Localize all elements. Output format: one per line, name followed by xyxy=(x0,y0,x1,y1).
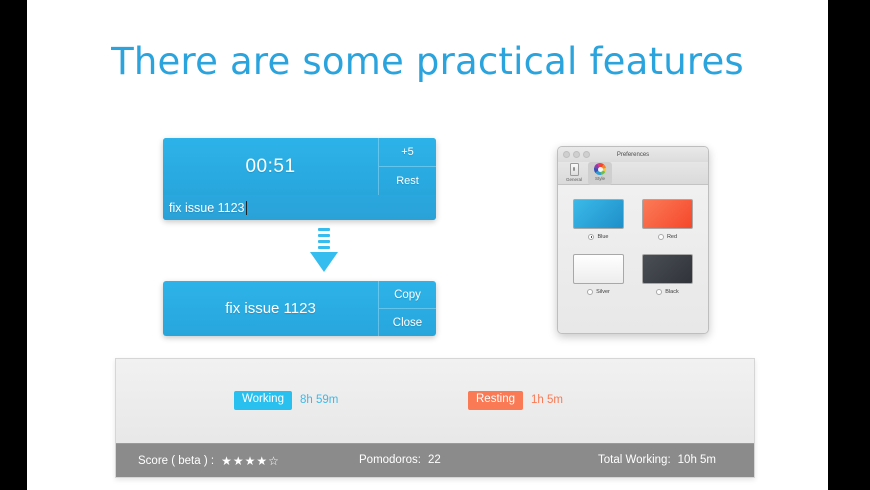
preferences-body: Blue Red Silver xyxy=(558,185,708,333)
preferences-toolbar: General Style xyxy=(558,162,708,185)
working-stat: Working 8h 59m xyxy=(234,391,338,410)
stats-footer: Score ( beta ) : ★★★★☆ Pomodoros: 22 Tot… xyxy=(116,443,754,478)
task-input-value: fix issue 1123 xyxy=(169,201,245,215)
score-stars: ★★★★☆ xyxy=(221,454,280,468)
radio-blue[interactable] xyxy=(588,234,594,240)
slide-canvas: There are some practical features 00:51 … xyxy=(27,0,828,490)
task-input-row[interactable]: fix issue 1123 xyxy=(163,195,436,220)
stats-panel: Working 8h 59m Resting 1h 5m Score ( bet… xyxy=(115,358,755,478)
arrow-segment xyxy=(318,228,330,231)
score-label: Score ( beta ) : xyxy=(138,455,214,467)
result-task-label: fix issue 1123 xyxy=(163,281,378,336)
radio-silver[interactable] xyxy=(587,289,593,295)
arrow-down-icon xyxy=(309,228,339,276)
add-five-minutes-button[interactable]: +5 xyxy=(379,138,436,167)
arrow-segment xyxy=(318,240,330,243)
theme-label-black: Black xyxy=(665,289,678,295)
theme-option-blue[interactable]: Blue xyxy=(570,199,627,240)
theme-radio-row-black[interactable]: Black xyxy=(656,289,678,295)
theme-label-silver: Silver xyxy=(596,289,610,295)
swatch-black[interactable] xyxy=(642,254,693,284)
resting-badge: Resting xyxy=(468,391,523,410)
preferences-window: Preferences General Style xyxy=(557,146,709,334)
swatch-red[interactable] xyxy=(642,199,693,229)
rest-button[interactable]: Rest xyxy=(379,167,436,195)
tab-general[interactable]: General xyxy=(562,162,586,185)
text-caret xyxy=(246,201,248,215)
theme-option-red[interactable]: Red xyxy=(639,199,696,240)
page-title: There are some practical features xyxy=(27,40,828,83)
pomodoros-item: Pomodoros: 22 xyxy=(359,454,441,466)
score-item: Score ( beta ) : ★★★★☆ xyxy=(138,454,280,468)
timer-side-buttons: +5 Rest xyxy=(378,138,436,195)
color-wheel-icon xyxy=(594,163,606,175)
timer-top-row: 00:51 +5 Rest xyxy=(163,138,436,195)
swatch-blue[interactable] xyxy=(573,199,624,229)
theme-radio-row-blue[interactable]: Blue xyxy=(588,234,608,240)
total-working-item: Total Working: 10h 5m xyxy=(598,454,716,466)
working-value: 8h 59m xyxy=(300,394,338,406)
theme-swatch-grid: Blue Red Silver xyxy=(570,199,696,295)
window-title: Preferences xyxy=(558,152,708,158)
radio-black[interactable] xyxy=(656,289,662,295)
copy-button[interactable]: Copy xyxy=(379,281,436,309)
total-working-value: 10h 5m xyxy=(678,454,716,466)
general-icon xyxy=(570,163,579,176)
stats-summary-area: Working 8h 59m Resting 1h 5m xyxy=(116,359,754,443)
arrow-segment xyxy=(318,246,330,249)
total-working-label: Total Working: xyxy=(598,454,671,466)
pomodoros-value: 22 xyxy=(428,454,441,466)
window-titlebar[interactable]: Preferences xyxy=(558,147,708,162)
theme-radio-row-red[interactable]: Red xyxy=(658,234,677,240)
tab-general-label: General xyxy=(566,177,582,182)
tab-style[interactable]: Style xyxy=(588,162,612,185)
result-side-buttons: Copy Close xyxy=(378,281,436,336)
tab-style-label: Style xyxy=(595,176,605,181)
close-button[interactable]: Close xyxy=(379,309,436,336)
theme-label-red: Red xyxy=(667,234,677,240)
pomodoros-label: Pomodoros: xyxy=(359,454,421,466)
working-badge: Working xyxy=(234,391,292,410)
timer-widget: 00:51 +5 Rest fix issue 1123 xyxy=(163,138,436,220)
arrow-head xyxy=(310,252,338,272)
swatch-silver[interactable] xyxy=(573,254,624,284)
theme-label-blue: Blue xyxy=(597,234,608,240)
radio-red[interactable] xyxy=(658,234,664,240)
resting-stat: Resting 1h 5m xyxy=(468,391,563,410)
theme-option-silver[interactable]: Silver xyxy=(570,254,627,295)
theme-radio-row-silver[interactable]: Silver xyxy=(587,289,610,295)
theme-option-black[interactable]: Black xyxy=(639,254,696,295)
result-widget: fix issue 1123 Copy Close xyxy=(163,281,436,336)
arrow-segment xyxy=(318,234,330,237)
screenshot-stage: There are some practical features 00:51 … xyxy=(0,0,870,490)
resting-value: 1h 5m xyxy=(531,394,563,406)
timer-clock: 00:51 xyxy=(163,138,378,195)
